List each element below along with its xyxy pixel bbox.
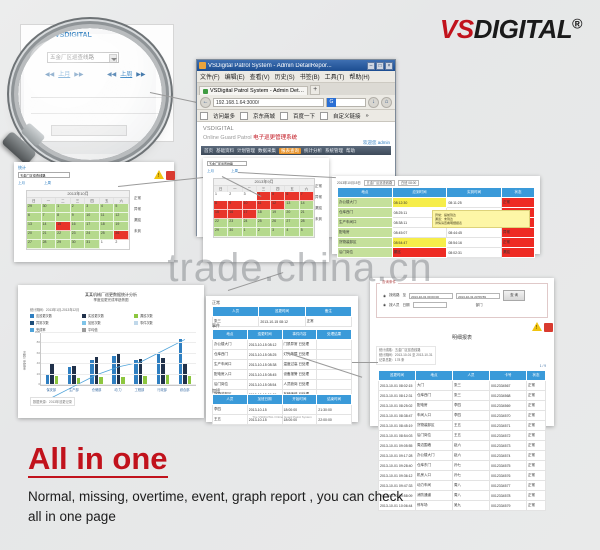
table-cell: 李四: [213, 405, 248, 415]
calendar-day[interactable]: 28: [42, 240, 57, 249]
calendar-day[interactable]: 27: [27, 240, 42, 249]
table-cell: 正常: [527, 421, 546, 431]
calendar-day[interactable]: 29: [27, 204, 42, 213]
new-tab-button[interactable]: +: [310, 85, 320, 95]
bookmark-baidu[interactable]: 百度一下: [293, 112, 315, 120]
table-cell: 灯光故障 已处理: [282, 350, 317, 360]
menu-edit[interactable]: 编辑(E): [225, 72, 245, 81]
col-ot-person: 人员: [213, 395, 248, 405]
radio-by-route[interactable]: ◉: [383, 294, 386, 298]
status-date: 2013年10月15日: [337, 181, 361, 185]
table-row[interactable]: 李四2013-10-1518:00:0021:30:00: [213, 405, 352, 415]
query-header-row: 巡更时间 地点 人员 卡号 状态: [379, 371, 546, 381]
calendar-day[interactable]: 11: [100, 213, 115, 222]
divider-secondary: [31, 113, 163, 114]
y-tick-label: 0: [38, 382, 40, 386]
magnified-logo: VSDIGITAL: [55, 32, 92, 39]
browser-tab[interactable]: VSDigital Patrol System - Admin Det…: [199, 86, 308, 95]
chart-ylabel: 次数 / 完成率: [22, 351, 27, 370]
download-icon[interactable]: ↓: [368, 97, 379, 108]
legend-abnormal: 异常: [315, 195, 322, 200]
calendar-day[interactable]: 30: [71, 240, 86, 249]
calendar-day[interactable]: 21: [300, 210, 314, 219]
x-tick-label: 生产部: [69, 387, 79, 392]
legend-absent: 未到: [134, 229, 141, 234]
arrow-next-week-icon[interactable]: ▶▶: [136, 72, 145, 78]
magnified-table-strip: [51, 125, 127, 136]
table-cell: 后门岗位: [416, 431, 453, 441]
chart-legend: 应巡更次数实巡更次数漏巡次数异常次数加班次数事件次数完成率平均值: [30, 313, 196, 332]
nav-basic[interactable]: 基础资料: [216, 148, 234, 154]
arrow-prev-week-icon[interactable]: ◀◀: [107, 72, 116, 78]
calendar-day[interactable]: 10: [85, 213, 100, 222]
x-tick-label: 行政部: [157, 387, 167, 392]
arrow-next-icon[interactable]: ▶▶: [74, 72, 83, 78]
home-icon[interactable]: ⌂: [381, 97, 392, 108]
left-route-select[interactable]: 五金厂区巡查线路: [18, 172, 70, 178]
col-expected: 应到时间: [392, 188, 447, 198]
legend-label: 事件次数: [140, 320, 153, 325]
table-cell: 0012334567: [490, 381, 527, 391]
calendar-day[interactable]: 2: [114, 240, 129, 249]
calendar-day[interactable]: 11: [257, 201, 271, 210]
calendar-day[interactable]: 2: [228, 192, 242, 201]
calendar-day[interactable]: 22: [56, 231, 71, 240]
table-cell: 生产车间口: [213, 360, 248, 370]
calendar-day[interactable]: 5: [114, 204, 129, 213]
bookmark-custom[interactable]: 自定义链接: [333, 112, 361, 120]
nav-system[interactable]: 系统管理: [325, 148, 343, 154]
calendar-day[interactable]: 12: [114, 213, 129, 222]
page-subtitle: Online Guard Patrol 电子巡更管理系统: [203, 133, 297, 141]
calendar-day[interactable]: 2: [71, 204, 86, 213]
menu-view[interactable]: 查看(V): [250, 72, 270, 81]
table-cell: 正常: [527, 401, 546, 411]
calendar-day[interactable]: 2: [257, 228, 271, 237]
legend-item: 加班次数: [82, 320, 128, 325]
table-cell: 漏巡: [502, 248, 535, 258]
radio-by-person[interactable]: ◉: [383, 303, 386, 307]
calendar-day[interactable]: 26: [271, 219, 285, 228]
warning-triangle-icon: [154, 170, 164, 179]
gridline: 80: [41, 342, 196, 343]
table-cell: 仓库西门: [416, 391, 453, 401]
report-footer: The VSDIGITAL Online Guard Patrol System: [206, 415, 358, 419]
calendar-day[interactable]: 26: [114, 231, 129, 240]
tab-title: VSDigital Patrol System - Admin Det…: [210, 88, 304, 94]
page-subtitle-en: Online Guard Patrol: [203, 135, 252, 141]
y-tick-label: 40: [37, 361, 40, 365]
calendar-day[interactable]: 14: [42, 222, 57, 231]
calendar-day[interactable]: 12: [271, 201, 285, 210]
calendar-day[interactable]: 10: [243, 201, 257, 210]
chart-card: 某某机械厂巡更数据统计分析 季度巡更完成率趋势图 统计期间：2013年1月-20…: [18, 285, 204, 418]
calendar-day[interactable]: 30: [42, 204, 57, 213]
table-cell: 18:00:00: [282, 405, 317, 415]
table-row[interactable]: 张三2013-10-15 08:12正常: [213, 317, 352, 327]
calendar-day[interactable]: 9: [228, 201, 242, 210]
status-tooltip: 异常：提前到达 漏巡：未到达 详情请查看明细报表: [432, 210, 530, 228]
back-icon[interactable]: ←: [200, 97, 211, 108]
radio-by-person-label: 按人员: [389, 303, 400, 308]
table-cell: [317, 350, 352, 360]
prev-month-nav[interactable]: ◀◀上月▶▶: [45, 69, 83, 78]
col-q-status: 状态: [527, 371, 546, 381]
menu-help[interactable]: 帮助(H): [349, 72, 369, 81]
table-cell: 车间入口: [416, 411, 453, 421]
x-tick-label: 动 力: [114, 387, 121, 392]
table-row[interactable]: 办公楼大门08:12:3008:11:25正常: [338, 198, 535, 208]
menu-bookmarks[interactable]: 书签(B): [300, 72, 320, 81]
calendar-day[interactable]: 15: [214, 210, 228, 219]
calendar-day[interactable]: 4: [100, 204, 115, 213]
normal-body: 张三2013-10-15 08:12正常: [213, 317, 352, 327]
gridline: 60: [41, 353, 196, 354]
table-row[interactable]: 2013-10-01 08:02:15大门张三0012334567正常: [379, 381, 546, 391]
legend-missed: 漏巡: [134, 218, 141, 223]
calendar-day[interactable]: 13: [27, 222, 42, 231]
table-cell: 2013-10-01 08:12:31: [379, 391, 416, 401]
table-cell: 配电房入口: [213, 370, 248, 380]
legend-swatch: [82, 314, 86, 318]
close-button[interactable]: ×: [385, 62, 393, 70]
legend-swatch: [82, 328, 86, 332]
table-cell: 办公楼大门: [338, 198, 393, 208]
calendar-day[interactable]: 4: [285, 228, 299, 237]
calendar-day[interactable]: 13: [285, 201, 299, 210]
calendar-day[interactable]: 9: [71, 213, 86, 222]
calendar-day[interactable]: 8: [56, 213, 71, 222]
query-alert-icons: [532, 322, 544, 332]
col-time: 巡更时间: [259, 307, 305, 317]
table-cell: [317, 340, 352, 350]
calendar-day[interactable]: 17: [243, 210, 257, 219]
table-cell: 0012334571: [490, 421, 527, 431]
calendar-day[interactable]: 1: [214, 192, 228, 201]
x-tick-label: 工程部: [135, 387, 145, 392]
registered-mark-icon: ®: [572, 15, 582, 31]
table-row[interactable]: 生产车间口2013-10-15 08:38温度过高 已处理: [213, 360, 352, 370]
table-cell: 0012334570: [490, 411, 527, 421]
chart-footnote: 数据来源：2013年巡更记录: [30, 397, 75, 406]
col-ev-time: 巡更时间: [247, 330, 282, 340]
right-prev-week[interactable]: 上周: [231, 169, 238, 174]
calendar-day[interactable]: 25: [100, 231, 115, 240]
legend-label: 漏巡次数: [140, 313, 153, 318]
calendar-day[interactable]: 31: [85, 240, 100, 249]
url-input[interactable]: 192.168.1.64:3000/: [213, 98, 324, 107]
legend-label: 加班次数: [88, 320, 101, 325]
col-q-person: 人员: [453, 371, 490, 381]
favicon-icon: [203, 89, 208, 94]
calendar-grid[interactable]: 2930123456789101112131415161718192021222…: [27, 204, 129, 249]
window-controls: – □ ×: [367, 62, 393, 70]
callout-line-detail-report: [228, 272, 283, 291]
page-info: 1 / 9: [540, 364, 546, 368]
legend-item: 事件次数: [134, 320, 180, 325]
calendar-day[interactable]: 1: [56, 204, 71, 213]
chart-plot-area: 020406080100: [40, 333, 196, 386]
footer-description: Normal, missing, overtime, event, graph …: [28, 487, 580, 528]
left-prev-month[interactable]: 上月: [18, 181, 25, 186]
nav-report[interactable]: 报表查询: [279, 148, 301, 154]
calendar-day[interactable]: 23: [71, 231, 86, 240]
calendar-grid[interactable]: 1234567891011121314151617181920212223242…: [214, 192, 314, 237]
dept-label: 部门: [476, 303, 483, 308]
table-row[interactable]: 2013-10-01 08:54:03后门岗位王五0012334572正常: [379, 431, 546, 441]
y-tick-label: 100: [35, 330, 40, 334]
legend-abnormal: 异常: [134, 207, 141, 212]
gridline: 20: [41, 374, 196, 375]
table-row[interactable]: 2013-10-01 08:45:19货物装卸区王五0012334571正常: [379, 421, 546, 431]
right-route-select[interactable]: 五金厂区巡查线路: [207, 161, 247, 166]
calendar-day[interactable]: 15: [56, 222, 71, 231]
browser-toolbar: ← 192.168.1.64:3000/ G ↓ ⌂: [197, 95, 395, 110]
table-cell: 配电房: [416, 401, 453, 411]
col-status: 状态: [502, 188, 535, 198]
legend-swatch: [134, 321, 138, 325]
table-cell: 08:45:07: [392, 228, 447, 238]
bookmark-icon-custom: [320, 112, 328, 120]
status-table-head: 地点 应到时间 实到时间 状态: [338, 188, 535, 198]
table-row[interactable]: 货物装卸区08:54:4708:54:16正常: [338, 238, 535, 248]
table-cell: 2013-10-15 08:12: [247, 340, 282, 350]
calendar-day[interactable]: 7: [300, 192, 314, 201]
prev-week-label[interactable]: 上周: [120, 72, 132, 78]
search-input[interactable]: G: [326, 98, 366, 107]
table-cell: 08:54:47: [392, 238, 447, 248]
menu-file[interactable]: 文件(F): [200, 72, 220, 81]
nav-stats[interactable]: 统计分析: [304, 148, 322, 154]
legend-item: 漏巡次数: [134, 313, 180, 318]
calendar-day[interactable]: 24: [243, 219, 257, 228]
table-cell: 2013-10-15 08:25: [247, 350, 282, 360]
col-ev-content: 事件内容: [282, 330, 317, 340]
col-location: 地点: [338, 188, 393, 198]
calendar-day[interactable]: 28: [300, 219, 314, 228]
chevron-down-icon[interactable]: [109, 54, 117, 63]
legend-label: 实巡更次数: [88, 313, 104, 318]
menu-tools[interactable]: 工具(T): [325, 72, 345, 81]
site-nav: 首页 基础资料 计划管理 数据采集 报表查询 统计分析 系统管理 帮助: [201, 146, 391, 155]
logo-digital: DIGITAL: [474, 14, 573, 44]
calendar-day[interactable]: 18: [257, 210, 271, 219]
table-cell: 正常: [527, 431, 546, 441]
legend-swatch: [30, 328, 34, 332]
footer-headline: All in one: [28, 443, 168, 478]
calendar-day[interactable]: 22: [214, 219, 228, 228]
calendar-day[interactable]: 3: [271, 228, 285, 237]
col-ot-end: 结束时间: [317, 395, 352, 405]
nav-help[interactable]: 帮助: [346, 148, 355, 154]
table-row[interactable]: 2013-10-01 08:12:31仓库西门张三0012334568正常: [379, 391, 546, 401]
calendar-day[interactable]: 27: [285, 219, 299, 228]
calendar-day[interactable]: 1: [100, 240, 115, 249]
calendar-day[interactable]: 29: [56, 240, 71, 249]
calendar-day[interactable]: 7: [42, 213, 57, 222]
calendar-day[interactable]: 5: [300, 228, 314, 237]
table-cell: 2013-10-15 08:12: [259, 317, 305, 327]
col-ev-result: 处理结果: [317, 330, 352, 340]
minimize-button[interactable]: –: [367, 62, 375, 70]
footer-description-line1: Normal, missing, overtime, event, graph …: [28, 487, 580, 507]
calendar-day[interactable]: 25: [257, 219, 271, 228]
legend-item: 实巡更次数: [82, 313, 128, 318]
overtime-table: 人员 加班日期 开始时间 结束时间 李四2013-10-1518:00:0021…: [212, 394, 352, 425]
table-cell: 大门: [416, 381, 453, 391]
most-visited-icon: [200, 112, 208, 120]
route-select-magnified[interactable]: 五金厂区巡查线路: [47, 52, 119, 63]
footer-headline-wrap: All in one: [28, 443, 580, 478]
search-button[interactable]: 查 询: [503, 290, 525, 301]
table-cell: 2013-10-01 08:25:02: [379, 401, 416, 411]
status-date-row: 2013年10月15日 五金厂区巡查线路 白班 08:00: [337, 180, 419, 185]
legend-swatch: [134, 314, 138, 318]
table-cell: 货物装卸区: [416, 421, 453, 431]
error-square-icon: [166, 171, 175, 180]
calendar-day[interactable]: 16: [71, 222, 86, 231]
report-meta: 统计线路：五金厂区巡查线路 统计期间：2013-10-01 至 2013-10-…: [376, 346, 436, 365]
table-cell: 张三: [453, 391, 490, 401]
prev-month-label[interactable]: 上月: [58, 72, 70, 78]
calendar-day[interactable]: 21: [42, 231, 57, 240]
screenshot-stage: VSDIGITAL® VSDIGITAL 五金厂区巡查线路 ◀◀上月▶▶ ◀◀上…: [0, 0, 600, 550]
calendar-day[interactable]: 1: [243, 228, 257, 237]
bookmarks-bar: 访问最多 京东商城 百度一下 自定义链接 »: [197, 110, 395, 122]
table-row[interactable]: 2013-10-01 08:38:47车间入口李四0012334570正常: [379, 411, 546, 421]
right-prev-month[interactable]: 上月: [207, 169, 214, 174]
table-cell: 后门岗位: [338, 248, 393, 258]
legend-normal: 正常: [134, 196, 141, 201]
query-fieldset: 查询条件 ◉ 按线路 至 2013-10-01 00:00:00 2013-10…: [376, 283, 548, 318]
nav-collect[interactable]: 数据采集: [258, 148, 276, 154]
table-cell: 正常: [527, 381, 546, 391]
nav-plan[interactable]: 计划管理: [237, 148, 255, 154]
col-remark: 备注: [305, 307, 351, 317]
legend-swatch: [30, 314, 34, 318]
arrow-prev-icon[interactable]: ◀◀: [45, 72, 54, 78]
table-cell: 2013-10-01 08:45:19: [379, 421, 416, 431]
calendar-day[interactable]: 6: [27, 213, 42, 222]
calendar-day[interactable]: 30: [228, 228, 242, 237]
calendar-day[interactable]: 4: [257, 192, 271, 201]
page-brand: VSDIGITAL: [203, 126, 234, 132]
chart-xaxis-labels: 保安部生产部仓储部动 力工程部行政部综合部: [40, 387, 196, 392]
left-panel-title: 统计: [18, 165, 26, 171]
left-alert-icons: [154, 170, 166, 180]
calendar-day[interactable]: 14: [300, 201, 314, 210]
bookmarks-overflow-icon[interactable]: »: [366, 113, 369, 119]
end-date-input[interactable]: 2013-10-31 23:59:59: [456, 293, 500, 299]
calendar-day[interactable]: 17: [85, 222, 100, 231]
calendar-day[interactable]: 5: [271, 192, 285, 201]
table-cell: 王五: [453, 431, 490, 441]
table-cell: 0012334572: [490, 431, 527, 441]
table-row[interactable]: 后门岗位2013-10-15 08:54人员缺岗 已处理: [213, 380, 352, 390]
table-row[interactable]: 配电房08:45:0708:44:45异常: [338, 228, 535, 238]
left-prev-week[interactable]: 上周: [44, 181, 51, 186]
table-row[interactable]: 配电房入口2013-10-15 08:45设备报警 已处理: [213, 370, 352, 380]
table-cell: 人员缺岗 已处理: [282, 380, 317, 390]
table-cell: 货物装卸区: [338, 238, 393, 248]
col-ot-date: 加班日期: [247, 395, 282, 405]
x-tick-label: 保安部: [47, 387, 57, 392]
col-q-location: 地点: [416, 371, 453, 381]
normal-header-row: 人员 巡更时间 备注: [213, 307, 352, 317]
legend-item: 异常次数: [30, 320, 76, 325]
calendar-day[interactable]: 19: [114, 222, 129, 231]
bookmark-jd[interactable]: 京东商城: [253, 112, 275, 120]
bookmark-most-visited[interactable]: 访问最多: [213, 112, 235, 120]
menu-history[interactable]: 历史(S): [275, 72, 295, 81]
vsdigital-logo: VSDIGITAL®: [440, 14, 582, 45]
start-date-input[interactable]: 2013-10-01 00:00:00: [409, 293, 453, 299]
calendar-day[interactable]: 18: [100, 222, 115, 231]
status-route[interactable]: 五金厂区巡查线路: [364, 180, 396, 186]
legend-missed: 漏巡: [315, 206, 322, 211]
date-input[interactable]: [413, 302, 447, 308]
calendar-day[interactable]: 16: [228, 210, 242, 219]
table-row[interactable]: 办公楼大门2013-10-15 08:12门禁异常 已处理: [213, 340, 352, 350]
footer-description-line2: all in one page: [28, 507, 580, 527]
calendar-day[interactable]: 8: [214, 201, 228, 210]
table-cell: 08:02:31: [447, 248, 502, 258]
report-title: 明细报表: [370, 334, 554, 341]
overtime-header-row: 人员 加班日期 开始时间 结束时间: [213, 395, 352, 405]
bookmark-icon-baidu: [280, 112, 288, 120]
table-cell: 正常: [502, 198, 535, 208]
col-person: 人员: [213, 307, 259, 317]
prev-week-nav[interactable]: ◀◀上周▶▶: [107, 69, 145, 78]
legend-absent: 未到: [315, 217, 322, 222]
legend-label: 应巡更次数: [36, 313, 52, 318]
maximize-button[interactable]: □: [376, 62, 384, 70]
nav-home[interactable]: 首页: [204, 148, 213, 154]
search-engine-icon: G: [327, 98, 336, 107]
calendar-day[interactable]: 20: [285, 210, 299, 219]
calendar-day[interactable]: 29: [214, 228, 228, 237]
table-cell: 08:11:25: [447, 198, 502, 208]
table-cell: 2013-10-01 08:02:15: [379, 381, 416, 391]
table-cell: 2013-10-01 08:38:47: [379, 411, 416, 421]
calendar-day[interactable]: 23: [228, 219, 242, 228]
app-icon: [199, 62, 206, 69]
normal-head: 人员 巡更时间 备注: [213, 307, 352, 317]
calendar-day[interactable]: 3: [85, 204, 100, 213]
calendar-card-left: 统计 五金厂区巡查线路 上月 上周 2013年10月 日 一 二 三 四 五 六…: [14, 162, 174, 262]
calendar-day[interactable]: 19: [271, 210, 285, 219]
chart-subtitle: 季度巡更完成率趋势图: [18, 298, 204, 303]
calendar-day[interactable]: 24: [85, 231, 100, 240]
calendar-day[interactable]: 20: [27, 231, 42, 240]
table-cell: 2013-10-15 08:54: [247, 380, 282, 390]
error-square-icon: [544, 323, 553, 332]
table-row[interactable]: 后门岗位漏巡08:02:31漏巡: [338, 248, 535, 258]
status-shift[interactable]: 白班 08:00: [398, 180, 419, 186]
table-cell: 设备报警 已处理: [282, 370, 317, 380]
table-cell: 正常: [527, 391, 546, 401]
calendar-day[interactable]: 6: [285, 192, 299, 201]
bookmark-icon-jd: [240, 112, 248, 120]
event-header-row: 地点 巡更时间 事件内容 处理结果: [213, 330, 352, 340]
table-row[interactable]: 2013-10-01 08:25:02配电房李四0012334569正常: [379, 401, 546, 411]
table-row[interactable]: 仓库西门2013-10-15 08:25灯光故障 已处理: [213, 350, 352, 360]
status-header-row: 地点 应到时间 实到时间 状态: [338, 188, 535, 198]
overtime-head: 人员 加班日期 开始时间 结束时间: [213, 395, 352, 405]
y-tick-label: 80: [37, 340, 40, 344]
warning-triangle-icon: [532, 322, 542, 331]
chart-note: 统计期间：2013年1月-2013年12月: [30, 307, 79, 312]
